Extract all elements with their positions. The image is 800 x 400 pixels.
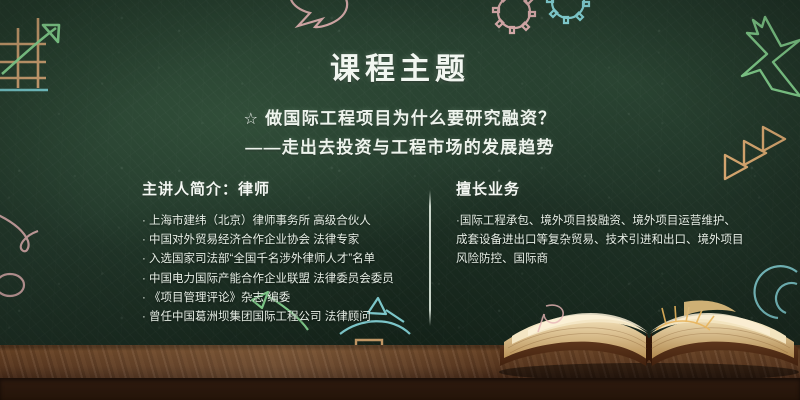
desk-front-edge [0,378,800,400]
list-item: · 入选国家司法部“全国千名涉外律师人才”名单 [142,250,422,269]
speaker-credentials-list: · 上海市建纬（北京）律师事务所 高级合伙人 · 中国对外贸易经济合作企业协会 … [142,212,422,327]
subtitle-line-2: ——走出去投资与工程市场的发展趋势 [0,133,800,158]
expertise-body-text: ·国际工程承包、境外项目投融资、境外项目运营维护、成套设备进出口等复杂贸易、技术… [456,212,746,270]
gear-icon-pink [493,0,535,33]
speaker-profile-column: 主讲人简介：律师 · 上海市建纬（北京）律师事务所 高级合伙人 · 中国对外贸易… [142,178,422,327]
list-item: · 中国对外贸易经济合作企业协会 法律专家 [142,231,422,250]
sketch-curve-icon [0,213,38,296]
list-item: · 上海市建纬（北京）律师事务所 高级合伙人 [142,212,422,231]
gear-icon-cyan [547,0,589,23]
list-item: · 曾任中国葛洲坝集团国际工程公司 法律顾问 [142,308,422,327]
subtitle-line-1: ☆做国际工程项目为什么要研究融资？ [0,104,800,129]
page-title: 课程主题 [0,44,800,88]
presentation-slide: 课程主题 ☆做国际工程项目为什么要研究融资？ ——走出去投资与工程市场的发展趋势… [0,0,800,400]
open-book-illustration [498,286,800,378]
speaker-profile-heading: 主讲人简介：律师 [142,178,422,199]
speech-bubble-icon [290,0,347,27]
column-divider [429,190,431,326]
expertise-heading: 擅长业务 [456,178,746,199]
list-item: · 《项目管理评论》杂志 编委 [142,289,422,308]
list-item: · 中国电力国际产能合作企业联盟 法律委员会委员 [142,270,422,289]
subtitle-line-1-text: 做国际工程项目为什么要研究融资？ [265,109,556,128]
expertise-column: 擅长业务 ·国际工程承包、境外项目投融资、境外项目运营维护、成套设备进出口等复杂… [456,178,746,270]
star-icon: ☆ [244,111,260,128]
